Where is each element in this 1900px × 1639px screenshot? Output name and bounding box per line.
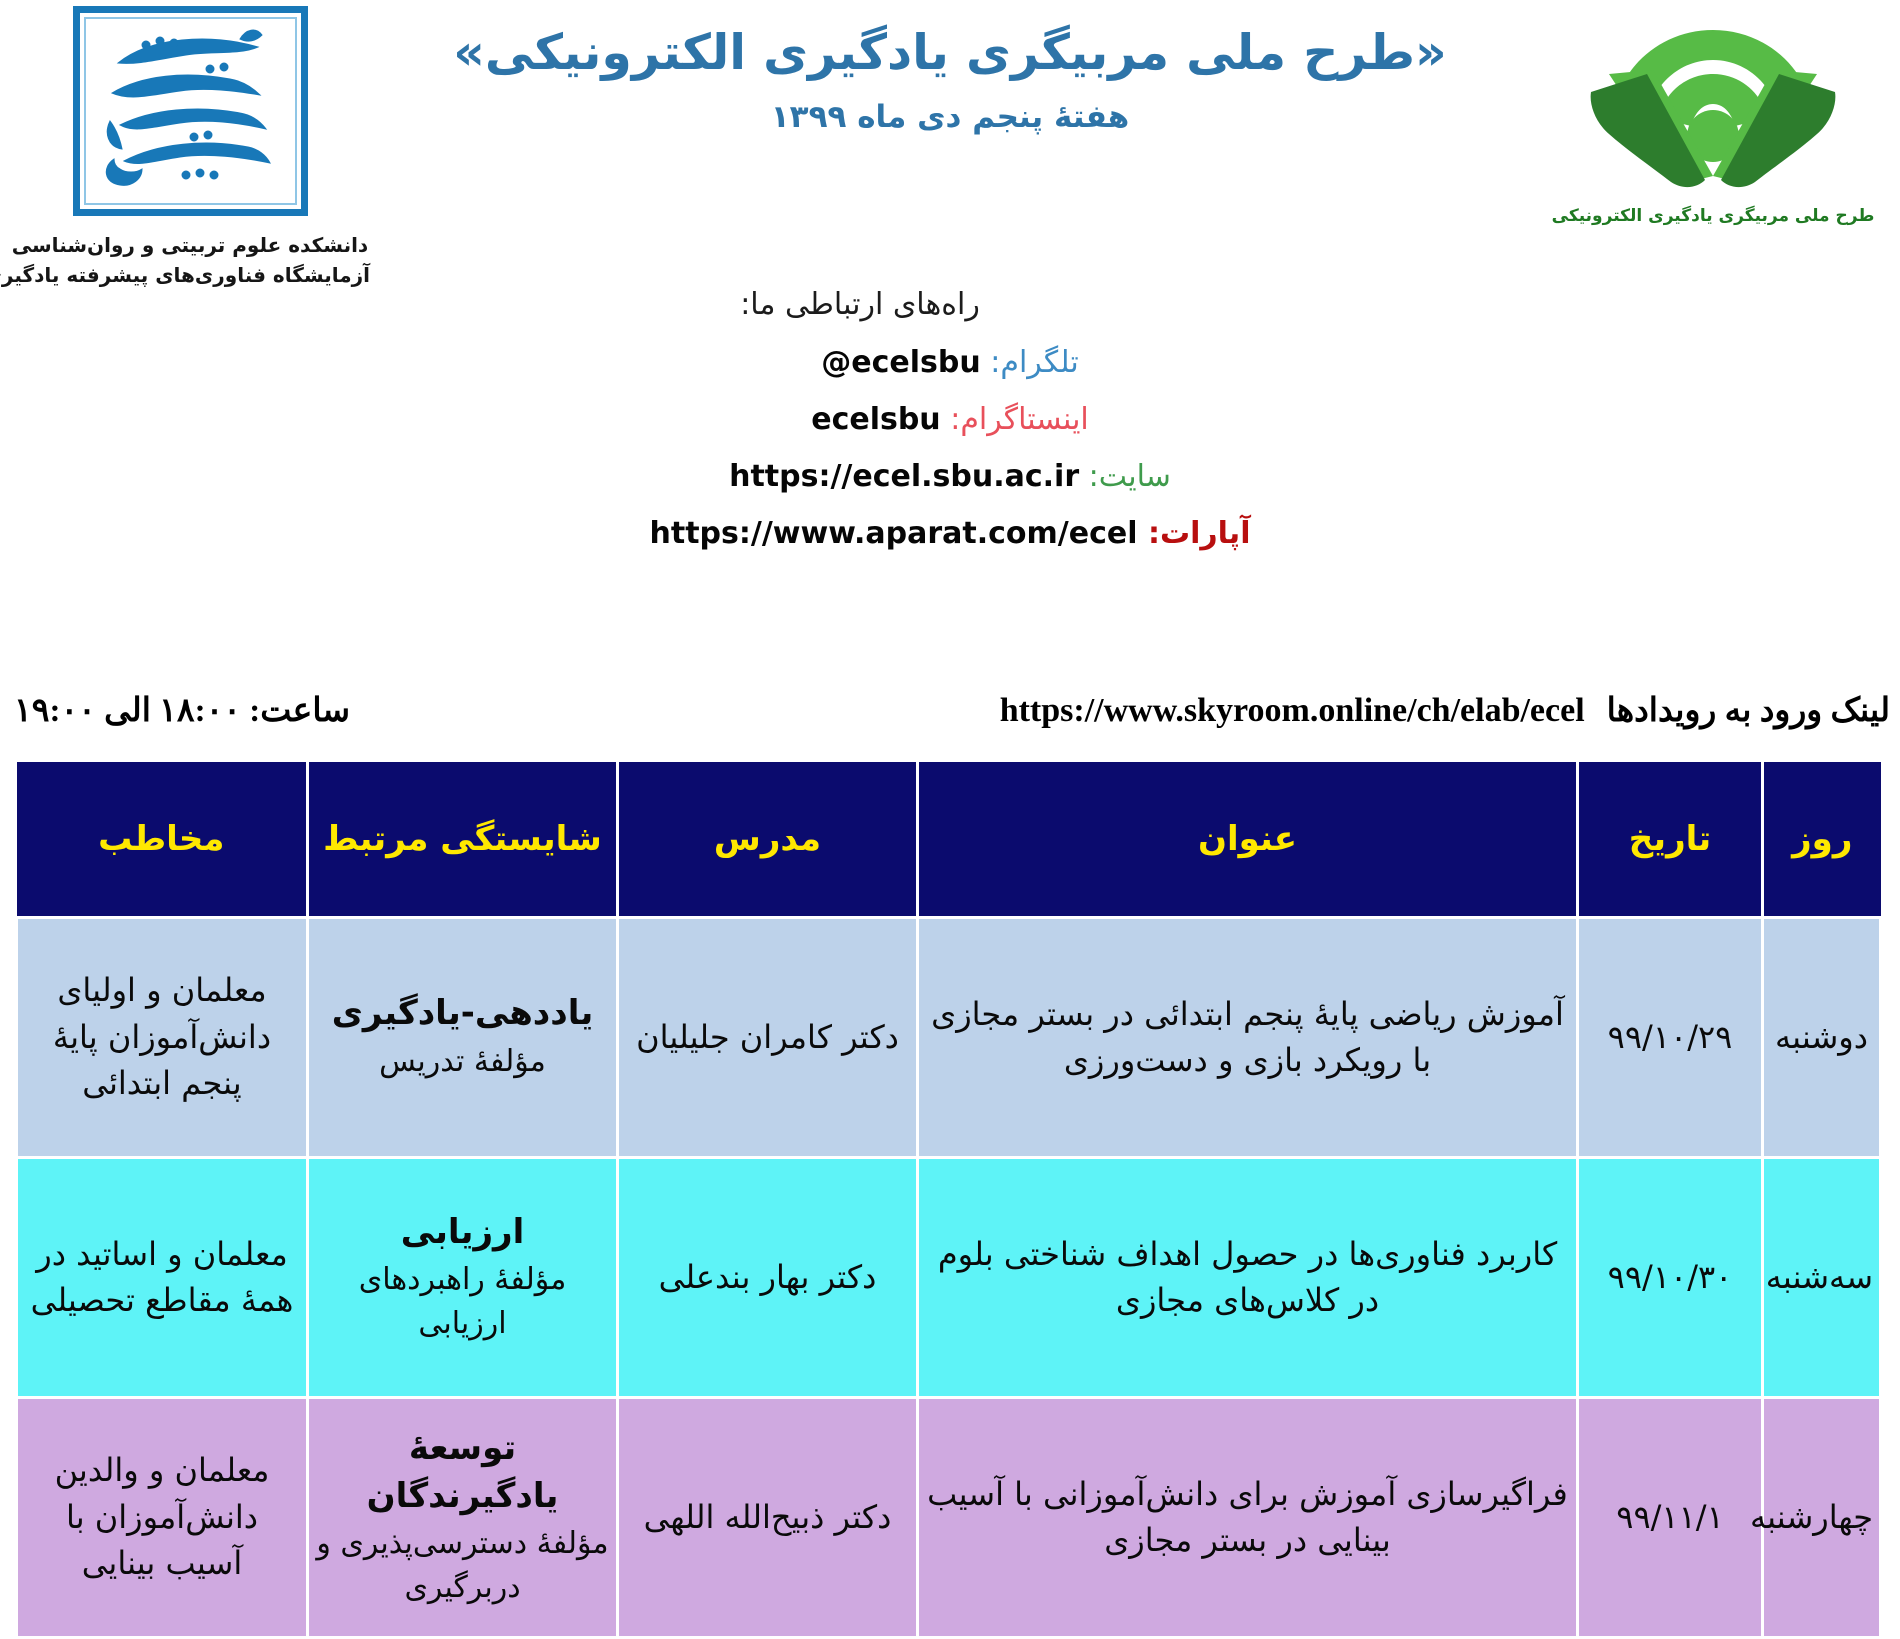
competency-main: توسعهٔ یادگیرندگان bbox=[315, 1425, 610, 1520]
aparat-separator: : bbox=[1138, 516, 1160, 551]
contact-line-website: سایت: https://ecel.sbu.ac.ir bbox=[0, 462, 1900, 492]
cell-title: آموزش ریاضی پایهٔ پنجم ابتدائی در بستر م… bbox=[918, 917, 1578, 1157]
university-logo-block: دانشکده علوم تربیتی و روان‌شناسی آزمایشگ… bbox=[10, 6, 370, 290]
competency-sub: مؤلفهٔ راهبردهای ارزیابی bbox=[315, 1258, 610, 1345]
table-row: سه‌شنبه ۹۹/۱۰/۳۰ کاربرد فناوری‌ها در حصو… bbox=[17, 1157, 1881, 1397]
cell-title: کاربرد فناوری‌ها در حصول اهداف شناختی بل… bbox=[918, 1157, 1578, 1397]
cell-instructor: دکتر بهار بندعلی bbox=[618, 1157, 918, 1397]
column-header-date: تاریخ bbox=[1578, 762, 1763, 917]
contact-block: راه‌های ارتباطی ما: تلگرام: @ecelsbu این… bbox=[0, 290, 1900, 576]
telegram-separator: : bbox=[981, 345, 1001, 380]
contact-line-aparat: آپارات: https://www.aparat.com/ecel bbox=[0, 519, 1900, 549]
aparat-url[interactable]: https://www.aparat.com/ecel bbox=[650, 519, 1138, 549]
session-time: ساعت: ۱۸:۰۰ الی ۱۹:۰۰ bbox=[10, 690, 350, 730]
table-header-row: روز تاریخ عنوان مدرس شایستگی مرتبط مخاطب bbox=[17, 762, 1881, 917]
shahid-beheshti-university-logo-icon bbox=[73, 6, 308, 216]
telegram-handle[interactable]: @ecelsbu bbox=[821, 348, 980, 378]
column-header-day: روز bbox=[1763, 762, 1881, 917]
page-title: «طرح ملی مربیگری یادگیری الکترونیکی» bbox=[400, 22, 1500, 83]
cell-date: ۹۹/۱۱/۱ bbox=[1578, 1397, 1763, 1637]
column-header-competency: شایستگی مرتبط bbox=[308, 762, 618, 917]
competency-sub: مؤلفهٔ تدریس bbox=[315, 1040, 610, 1084]
page-subtitle: هفتهٔ پنجم دی ماه ۱۳۹۹ bbox=[400, 99, 1500, 135]
cell-day: دوشنبه bbox=[1763, 917, 1881, 1157]
ecel-logo-block: طرح ملی مربیگری یادگیری الکترونیکی bbox=[1548, 8, 1878, 226]
cell-audience: معلمان و والدین دانش‌آموزان با آسیب بینا… bbox=[17, 1397, 308, 1637]
cell-audience: معلمان و اولیای دانش‌آموزان پایهٔ پنجم ا… bbox=[17, 917, 308, 1157]
schedule-table-wrapper: روز تاریخ عنوان مدرس شایستگی مرتبط مخاطب… bbox=[18, 762, 1882, 1639]
contact-line-instagram: اینستاگرام: ecelsbu bbox=[0, 405, 1900, 435]
cell-instructor: دکتر ذبیح‌الله اللهی bbox=[618, 1397, 918, 1637]
instagram-handle[interactable]: ecelsbu bbox=[811, 405, 940, 435]
website-label: سایت bbox=[1099, 459, 1171, 494]
aparat-label: آپارات bbox=[1160, 516, 1251, 551]
telegram-label: تلگرام bbox=[1000, 345, 1078, 380]
website-separator: : bbox=[1079, 459, 1099, 494]
university-caption: دانشکده علوم تربیتی و روان‌شناسی آزمایشگ… bbox=[10, 230, 370, 290]
events-link-label: لینک ورود به رویدادها bbox=[1607, 690, 1890, 730]
events-link-bar: لینک ورود به رویدادها https://www.skyroo… bbox=[0, 690, 1900, 756]
column-header-audience: مخاطب bbox=[17, 762, 308, 917]
faculty-name: دانشکده علوم تربیتی و روان‌شناسی bbox=[10, 230, 370, 260]
instagram-label: اینستاگرام bbox=[960, 402, 1088, 437]
cell-date: ۹۹/۱۰/۲۹ bbox=[1578, 917, 1763, 1157]
cell-day: چهارشنبه bbox=[1763, 1397, 1881, 1637]
table-row: چهارشنبه ۹۹/۱۱/۱ فراگیرسازی آموزش برای د… bbox=[17, 1397, 1881, 1637]
cell-audience: معلمان و اساتید در همهٔ مقاطع تحصیلی bbox=[17, 1157, 308, 1397]
title-block: «طرح ملی مربیگری یادگیری الکترونیکی» هفت… bbox=[400, 22, 1500, 135]
website-url[interactable]: https://ecel.sbu.ac.ir bbox=[729, 462, 1079, 492]
column-header-title: عنوان bbox=[918, 762, 1578, 917]
cell-day: سه‌شنبه bbox=[1763, 1157, 1881, 1397]
schedule-table: روز تاریخ عنوان مدرس شایستگی مرتبط مخاطب… bbox=[15, 762, 1882, 1639]
cell-title: فراگیرسازی آموزش برای دانش‌آموزانی با آس… bbox=[918, 1397, 1578, 1637]
competency-main: ارزیابی bbox=[315, 1209, 610, 1257]
instagram-separator: : bbox=[941, 402, 961, 437]
competency-sub: مؤلفهٔ دسترسی‌پذیری و دربرگیری bbox=[315, 1522, 610, 1609]
competency-main: یاددهی-یادگیری bbox=[315, 990, 610, 1038]
cell-competency: یاددهی-یادگیری مؤلفهٔ تدریس bbox=[308, 917, 618, 1157]
contact-line-telegram: تلگرام: @ecelsbu bbox=[0, 348, 1900, 378]
events-link-url[interactable]: https://www.skyroom.online/ch/elab/ecel bbox=[1000, 692, 1585, 730]
cell-competency: توسعهٔ یادگیرندگان مؤلفهٔ دسترسی‌پذیری و… bbox=[308, 1397, 618, 1637]
cell-competency: ارزیابی مؤلفهٔ راهبردهای ارزیابی bbox=[308, 1157, 618, 1397]
contact-intro: راه‌های ارتباطی ما: bbox=[0, 290, 1900, 320]
cell-date: ۹۹/۱۰/۳۰ bbox=[1578, 1157, 1763, 1397]
ecel-logo-caption: طرح ملی مربیگری یادگیری الکترونیکی bbox=[1548, 206, 1878, 226]
ecel-wifi-hands-logo-icon bbox=[1587, 8, 1839, 200]
column-header-instructor: مدرس bbox=[618, 762, 918, 917]
cell-instructor: دکتر کامران جلیلیان bbox=[618, 917, 918, 1157]
events-link-group: لینک ورود به رویدادها https://www.skyroo… bbox=[1000, 690, 1890, 730]
table-row: دوشنبه ۹۹/۱۰/۲۹ آموزش ریاضی پایهٔ پنجم ا… bbox=[17, 917, 1881, 1157]
lab-name: آزمایشگاه فناوری‌های پیشرفته یادگیری bbox=[10, 260, 370, 290]
